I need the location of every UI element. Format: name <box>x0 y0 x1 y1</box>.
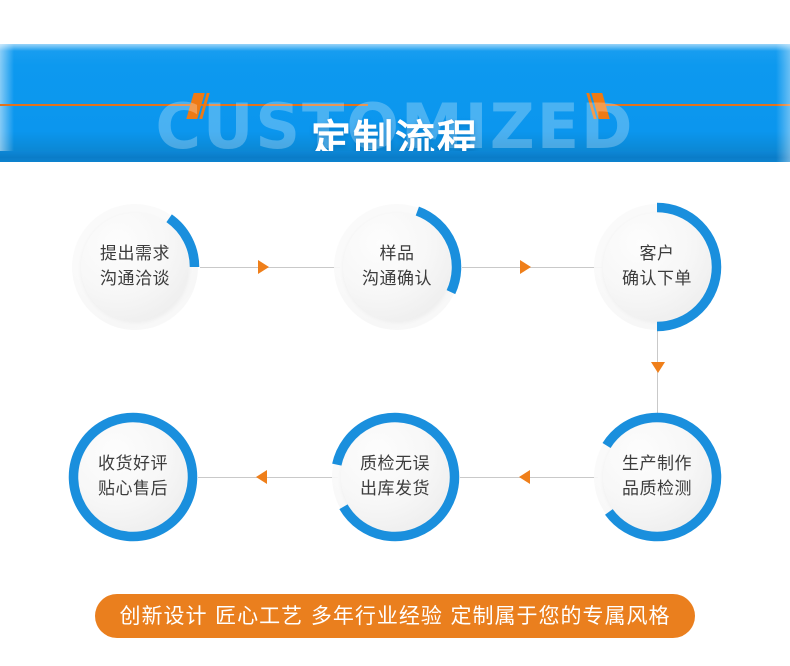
footer-slogan-text: 创新设计 匠心工艺 多年行业经验 定制属于您的专属风格 <box>119 594 670 638</box>
connector-step3-step4-arrow-icon <box>651 362 665 373</box>
node-label-line2: 确认下单 <box>622 267 692 292</box>
node-label-line2: 贴心售后 <box>98 477 168 502</box>
node-label-1: 提出需求 沟通洽谈 <box>100 242 170 292</box>
step-node-5[interactable]: 质检无误 出库发货 <box>330 412 460 542</box>
node-label-line2: 出库发货 <box>360 477 430 502</box>
connector-step2-step3-arrow-icon <box>520 260 531 274</box>
node-label-4: 生产制作 品质检测 <box>622 452 692 502</box>
connector-step1-step2-arrow-icon <box>258 260 269 274</box>
node-label-line2: 品质检测 <box>622 477 692 502</box>
step-node-4[interactable]: 生产制作 品质检测 <box>592 412 722 542</box>
connector-step2-step3-line <box>462 267 602 268</box>
connector-step5-step6-line <box>198 477 338 478</box>
footer-slogan-banner: 创新设计 匠心工艺 多年行业经验 定制属于您的专属风格 <box>95 594 695 638</box>
process-flow-diagram: 提出需求 沟通洽谈 样品 沟通确认 <box>0 162 790 582</box>
header-bottom-band <box>0 151 790 162</box>
node-label-6: 收货好评 贴心售后 <box>98 452 168 502</box>
node-label-line1: 提出需求 <box>100 242 170 267</box>
node-label-line1: 样品 <box>362 242 432 267</box>
connector-step5-step6-arrow-icon <box>256 470 267 484</box>
header-top-highlight <box>0 44 790 51</box>
step-node-6[interactable]: 收货好评 贴心售后 <box>68 412 198 542</box>
step-node-3[interactable]: 客户 确认下单 <box>592 202 722 332</box>
node-label-line2: 沟通洽谈 <box>100 267 170 292</box>
step-node-1[interactable]: 提出需求 沟通洽谈 <box>70 202 200 332</box>
header-banner: CUSTOMIZED 定制流程 <box>0 44 790 162</box>
connector-step1-step2-line <box>200 267 340 268</box>
node-label-5: 质检无误 出库发货 <box>360 452 430 502</box>
node-label-line1: 收货好评 <box>98 452 168 477</box>
node-label-3: 客户 确认下单 <box>622 242 692 292</box>
node-label-line1: 生产制作 <box>622 452 692 477</box>
step-node-2[interactable]: 样品 沟通确认 <box>332 202 462 332</box>
customization-process-page: CUSTOMIZED 定制流程 提出需求 沟通洽谈 <box>0 0 790 666</box>
node-label-line1: 客户 <box>622 242 692 267</box>
node-label-line2: 沟通确认 <box>362 267 432 292</box>
node-label-2: 样品 沟通确认 <box>362 242 432 292</box>
node-label-line1: 质检无误 <box>360 452 430 477</box>
connector-step4-step5-arrow-icon <box>519 470 530 484</box>
